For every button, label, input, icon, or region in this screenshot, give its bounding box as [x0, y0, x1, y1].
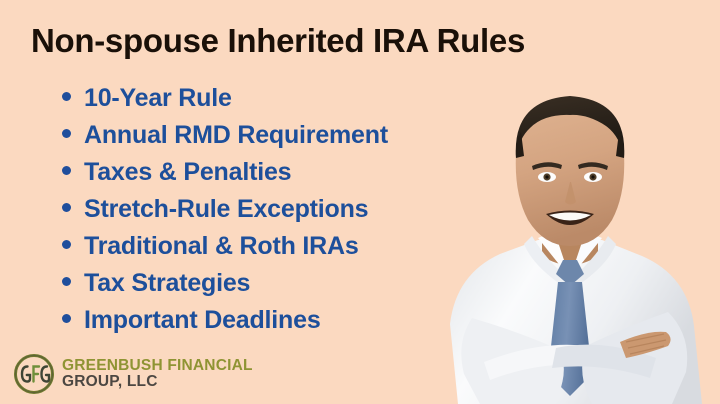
- list-item-label: Annual RMD Requirement: [84, 121, 388, 150]
- logo-wordmark: GREENBUSH FINANCIAL GROUP, LLC: [62, 358, 253, 391]
- gfg-monogram-icon: [14, 354, 54, 394]
- logo-line-one: GREENBUSH FINANCIAL: [62, 358, 253, 374]
- logo-line-two: GROUP, LLC: [62, 374, 253, 390]
- list-item: Annual RMD Requirement: [62, 121, 388, 158]
- bullet-dot-icon: [62, 240, 71, 249]
- bullet-dot-icon: [62, 129, 71, 138]
- list-item-label: Stretch-Rule Exceptions: [84, 195, 368, 224]
- list-item: Stretch-Rule Exceptions: [62, 195, 388, 232]
- page-title: Non-spouse Inherited IRA Rules: [31, 22, 525, 60]
- list-item-label: Tax Strategies: [84, 269, 250, 298]
- list-item: Traditional & Roth IRAs: [62, 232, 388, 269]
- list-item: Tax Strategies: [62, 269, 388, 306]
- bullet-dot-icon: [62, 166, 71, 175]
- portrait-photo: [420, 74, 720, 404]
- bullet-dot-icon: [62, 203, 71, 212]
- list-item: Important Deadlines: [62, 306, 388, 343]
- list-item-label: 10-Year Rule: [84, 84, 232, 113]
- company-logo: GREENBUSH FINANCIAL GROUP, LLC: [14, 354, 253, 394]
- feature-bullet-list: 10-Year Rule Annual RMD Requirement Taxe…: [62, 84, 388, 343]
- bullet-dot-icon: [62, 314, 71, 323]
- slide-canvas: Non-spouse Inherited IRA Rules 10-Year R…: [0, 0, 720, 404]
- list-item: 10-Year Rule: [62, 84, 388, 121]
- bullet-dot-icon: [62, 92, 71, 101]
- list-item-label: Important Deadlines: [84, 306, 321, 335]
- list-item-label: Traditional & Roth IRAs: [84, 232, 359, 261]
- list-item: Taxes & Penalties: [62, 158, 388, 195]
- bullet-dot-icon: [62, 277, 71, 286]
- list-item-label: Taxes & Penalties: [84, 158, 291, 187]
